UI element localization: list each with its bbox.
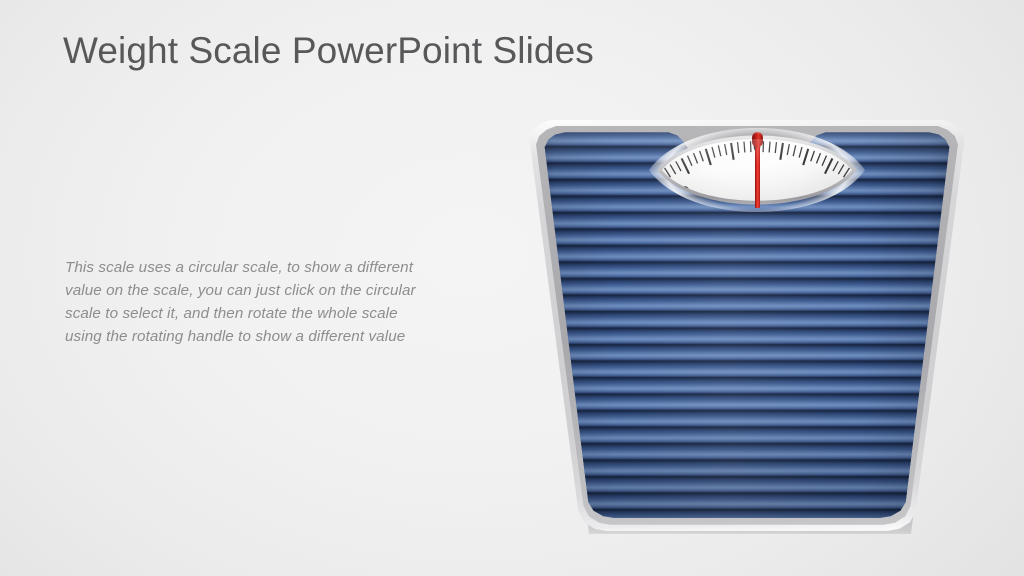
weight-scale-graphic[interactable]: 110 10 0 — [498, 104, 998, 552]
description-text: This scale uses a circular scale, to sho… — [65, 256, 425, 348]
page-title: Weight Scale PowerPoint Slides — [63, 28, 594, 74]
slide-canvas: Weight Scale PowerPoint Slides This scal… — [0, 0, 1024, 576]
dial-label-10: 10 — [822, 184, 848, 210]
dial-needle-cap — [752, 132, 763, 147]
circular-dial-gauge[interactable]: 110 10 0 — [653, 120, 861, 220]
